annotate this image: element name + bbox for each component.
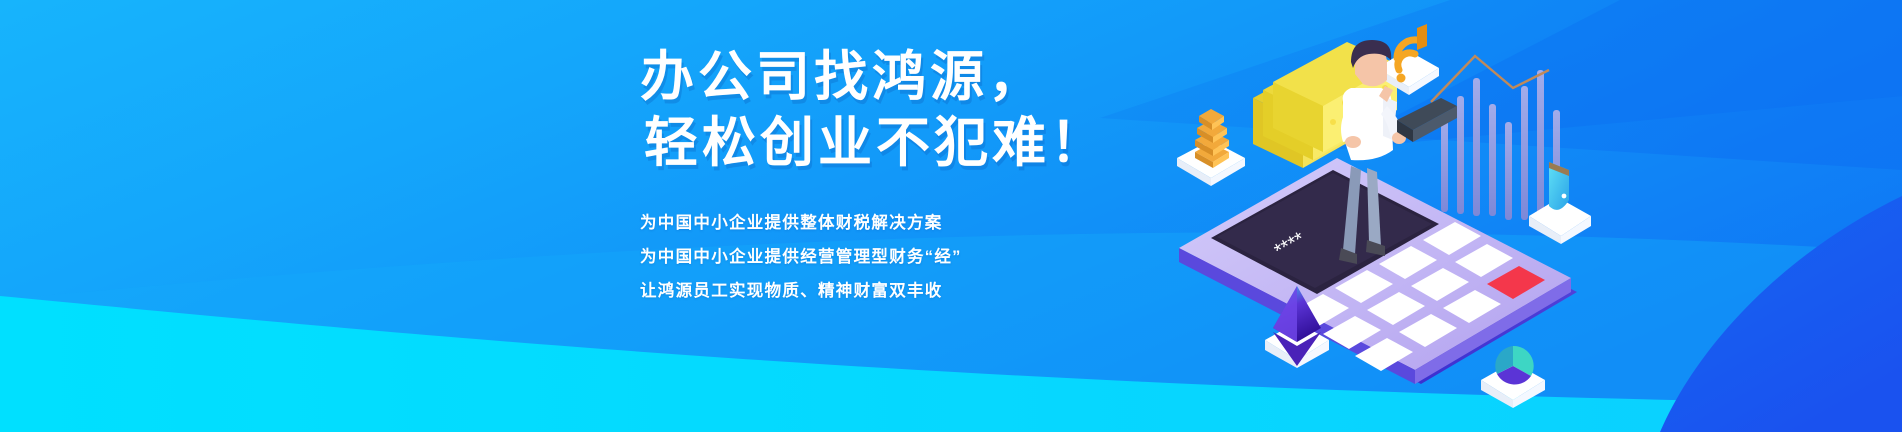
- isometric-finance-illustration: ****: [1145, 10, 1605, 430]
- headline-line-1: 办公司找鸿源，: [640, 44, 1200, 110]
- pie-chart-icon: [1481, 346, 1545, 408]
- headline-line-2: 轻松创业不犯难！: [640, 110, 1200, 176]
- illustration-svg: ****: [1145, 10, 1605, 430]
- headline: 办公司找鸿源， 轻松创业不犯难！: [640, 44, 1200, 176]
- gold-coin-stack: [1177, 109, 1245, 186]
- trend-line-graphic: [1431, 56, 1549, 102]
- subtitle-line-2: 为中国中小企业提供经营管理型财务“经”: [640, 240, 1200, 274]
- hero-banner: 办公司找鸿源， 轻松创业不犯难！ 为中国中小企业提供整体财税解决方案 为中国中小…: [0, 0, 1902, 432]
- subtitle-line-1: 为中国中小企业提供整体财税解决方案: [640, 206, 1200, 240]
- bar-chart-graphic: [1431, 56, 1560, 224]
- subtitle-block: 为中国中小企业提供整体财税解决方案 为中国中小企业提供经营管理型财务“经” 让鸿…: [640, 206, 1200, 308]
- subtitle-line-3: 让鸿源员工实现物质、精神财富双丰收: [640, 274, 1200, 308]
- copy-block: 办公司找鸿源， 轻松创业不犯难！ 为中国中小企业提供整体财税解决方案 为中国中小…: [640, 44, 1200, 308]
- hand-left: [1345, 136, 1361, 148]
